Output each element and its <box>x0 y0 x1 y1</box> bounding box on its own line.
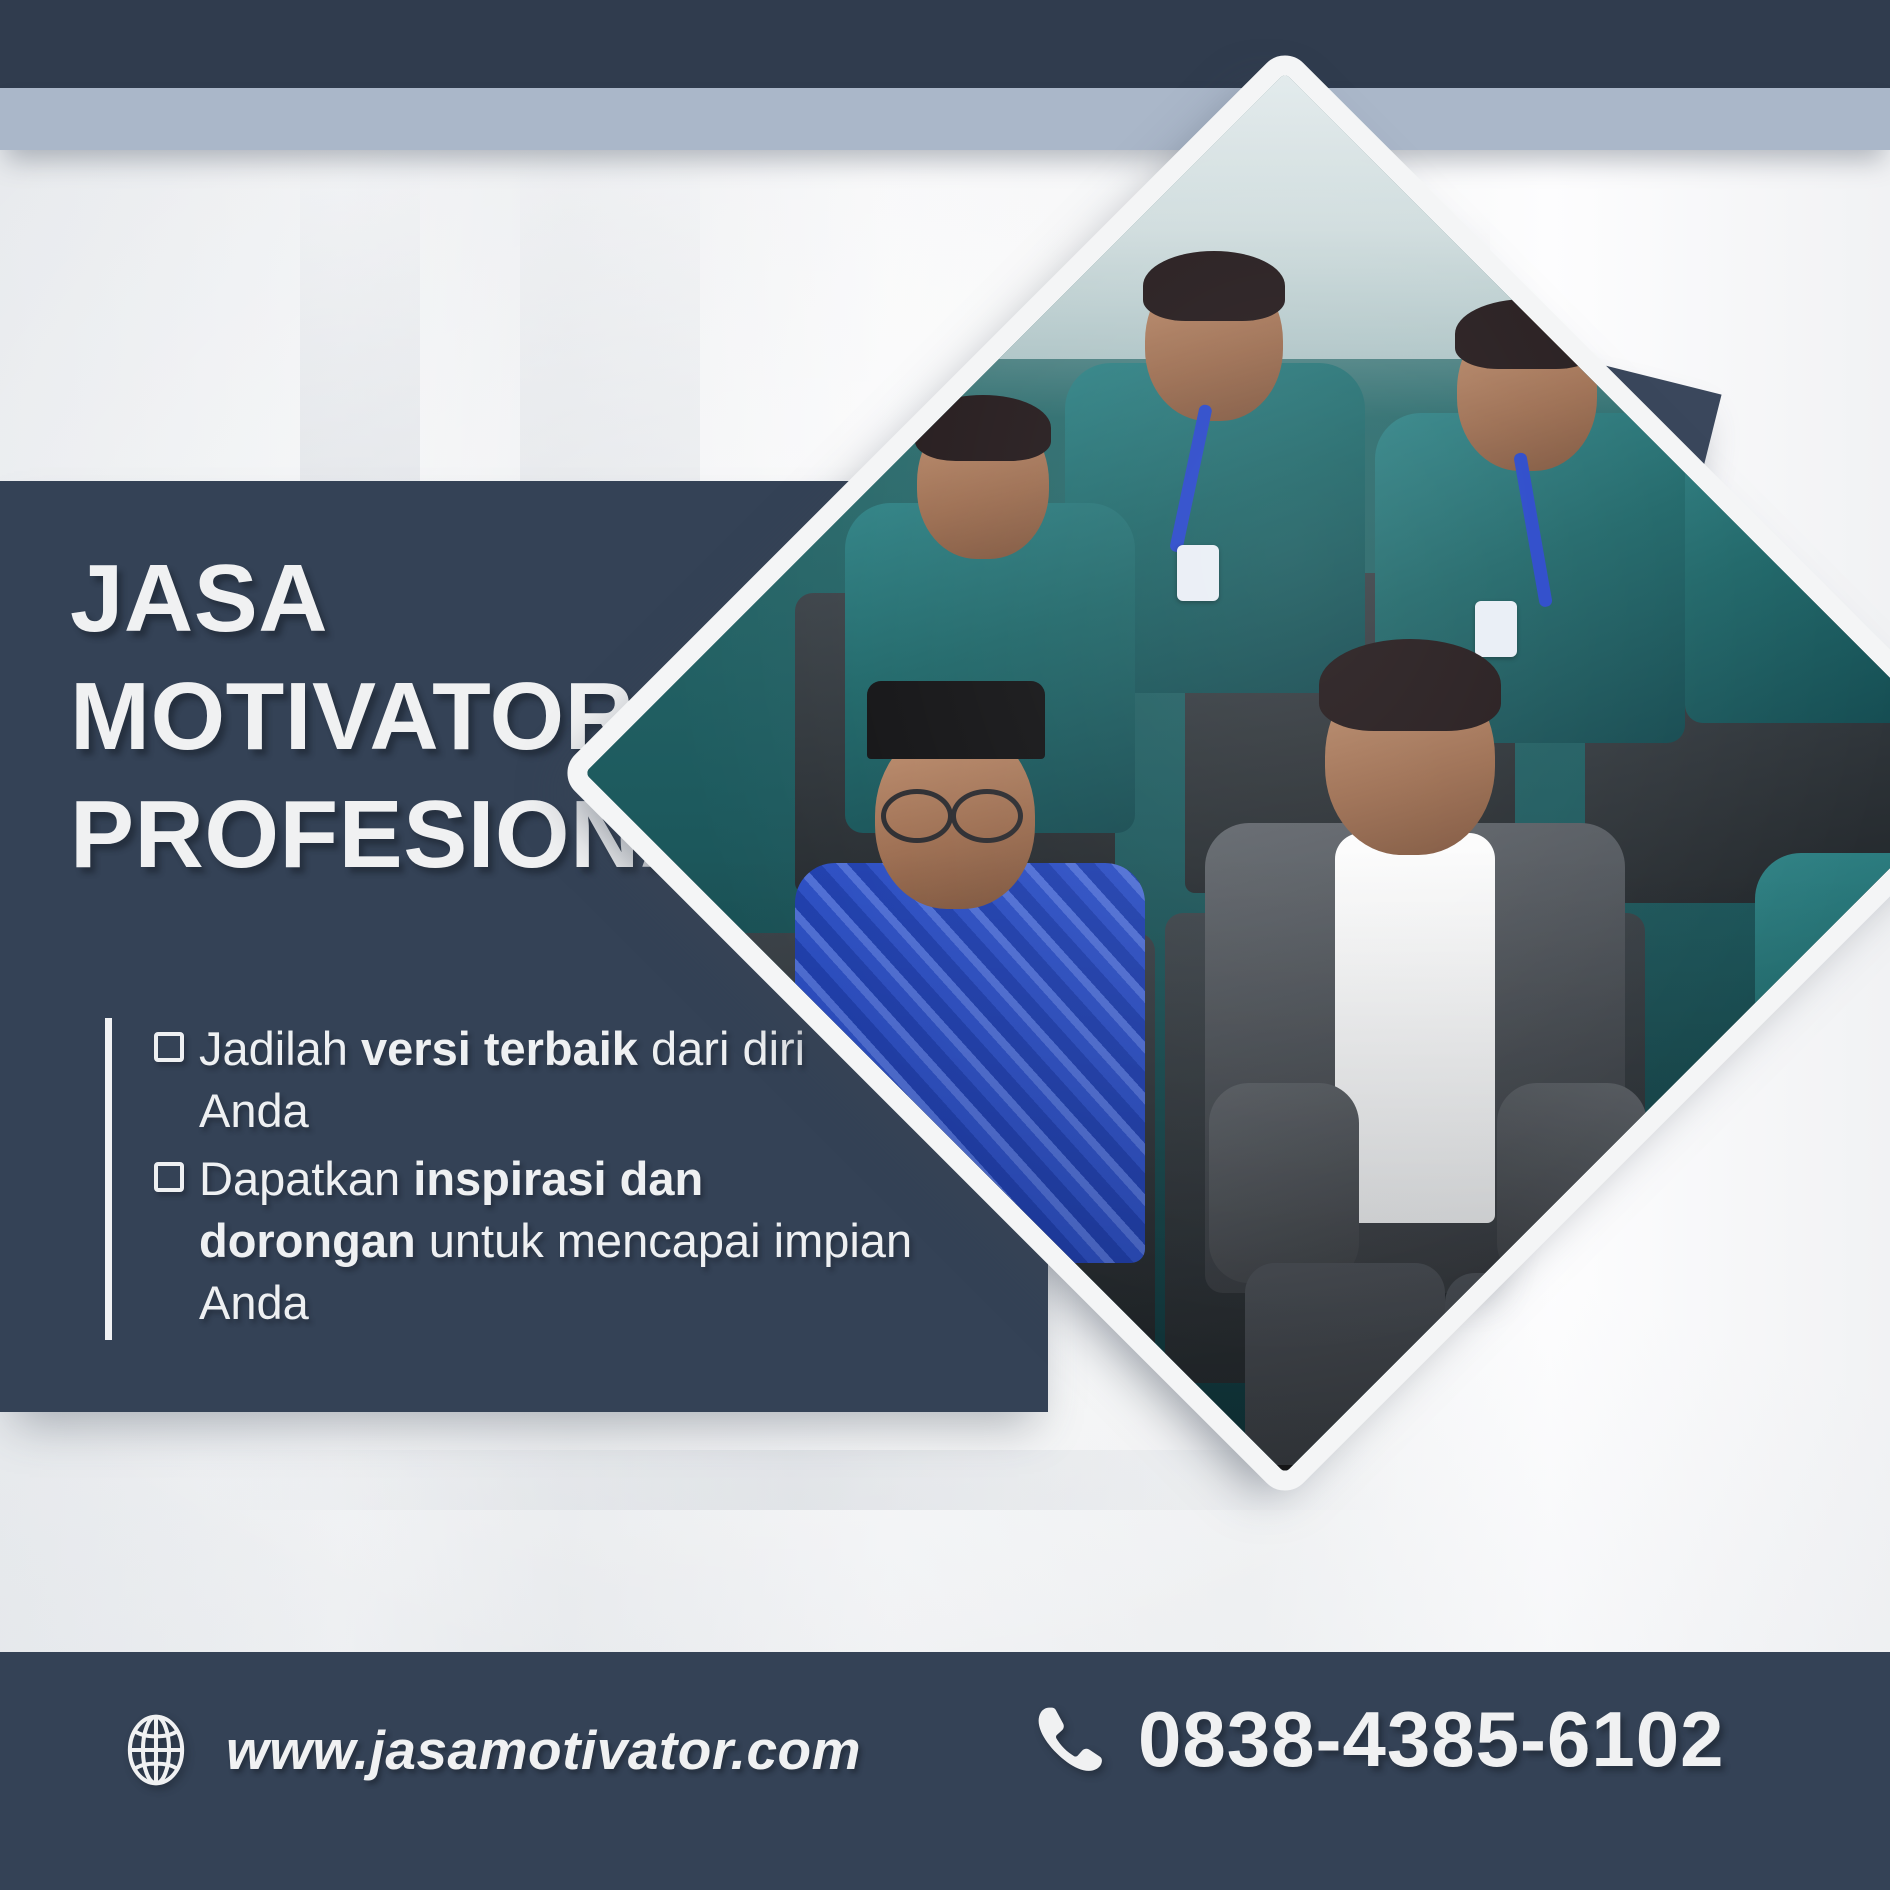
bullet-1-strong: versi terbaik <box>361 1022 638 1075</box>
globe-icon <box>118 1712 194 1788</box>
list-item-text: Dapatkan inspirasi dan dorongan untuk me… <box>199 1148 925 1334</box>
benefit-list: Jadilah versi terbaik dari diri Anda Dap… <box>105 1018 925 1340</box>
top-bar-light <box>0 88 1890 150</box>
phone-icon <box>1030 1701 1108 1779</box>
poster-canvas: JASA MOTIVATOR PROFESIONAL Jadilah versi… <box>0 0 1890 1890</box>
website-url: www.jasamotivator.com <box>226 1718 861 1782</box>
checkbox-square-icon <box>154 1162 184 1192</box>
top-bar-dark <box>0 0 1890 88</box>
phone-contact[interactable]: 0838-4385-6102 <box>1030 1694 1725 1785</box>
website-contact[interactable]: www.jasamotivator.com <box>118 1712 861 1788</box>
phone-number: 0838-4385-6102 <box>1138 1694 1725 1785</box>
checkbox-square-icon <box>154 1032 184 1062</box>
list-item-text: Jadilah versi terbaik dari diri Anda <box>199 1018 925 1142</box>
list-item: Jadilah versi terbaik dari diri Anda <box>154 1018 925 1142</box>
list-item: Dapatkan inspirasi dan dorongan untuk me… <box>154 1148 925 1334</box>
bullet-1-pre: Jadilah <box>199 1022 361 1075</box>
bullet-2-pre: Dapatkan <box>199 1152 413 1205</box>
